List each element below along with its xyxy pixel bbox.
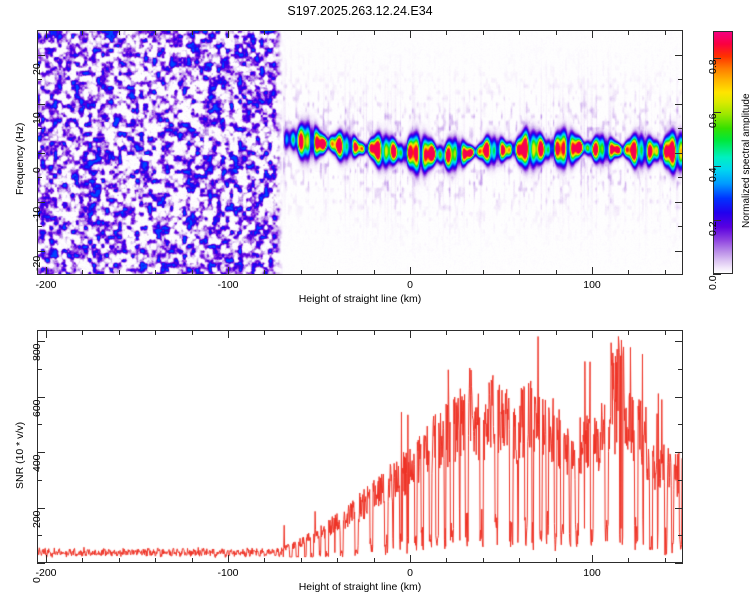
axis-tick [301, 330, 302, 335]
axis-tick [119, 330, 120, 335]
axis-tick [628, 30, 629, 35]
axis-tick [675, 153, 683, 154]
axis-tick [192, 330, 193, 335]
axis-tick-label: -100 [206, 567, 250, 579]
axis-tick [82, 330, 83, 335]
axis-tick [119, 558, 120, 563]
axis-tick [665, 330, 666, 335]
axis-tick [37, 424, 42, 425]
axis-tick [155, 30, 156, 35]
snr-yaxis-label: SNR (10 * v/v) [14, 421, 26, 488]
axis-tick [519, 270, 520, 275]
axis-tick [37, 128, 42, 129]
axis-tick [556, 30, 557, 35]
axis-tick [678, 424, 683, 425]
axis-tick [228, 330, 229, 338]
axis-tick [301, 30, 302, 35]
axis-tick [678, 226, 683, 227]
axis-tick [37, 79, 42, 80]
colorbar-tick-label: 0.4 [707, 146, 719, 182]
axis-tick [410, 330, 411, 338]
axis-tick [519, 30, 520, 35]
axis-tick [678, 128, 683, 129]
axis-tick-label: 0 [31, 543, 43, 583]
axis-tick [264, 270, 265, 275]
spectrogram-xaxis-label: Height of straight line (km) [37, 293, 683, 305]
axis-tick [119, 30, 120, 35]
axis-tick [592, 267, 593, 275]
colorbar-tick-label: 0.0 [707, 254, 719, 290]
axis-tick [301, 558, 302, 563]
axis-tick [665, 558, 666, 563]
axis-tick-label: 0 [388, 279, 432, 291]
axis-tick-label: -100 [206, 279, 250, 291]
axis-tick [337, 30, 338, 35]
axis-tick-label: 0 [31, 133, 43, 173]
spectrogram-image [38, 31, 682, 274]
axis-tick [82, 270, 83, 275]
axis-tick-label: 600 [31, 377, 43, 417]
axis-tick [374, 270, 375, 275]
axis-tick [483, 330, 484, 335]
axis-tick-label: -20 [31, 231, 43, 271]
axis-tick [192, 30, 193, 35]
axis-tick [82, 30, 83, 35]
axis-tick [82, 558, 83, 563]
axis-tick [678, 79, 683, 80]
axis-tick [192, 270, 193, 275]
axis-tick [46, 555, 47, 563]
axis-tick-label: 100 [570, 279, 614, 291]
axis-tick [483, 30, 484, 35]
axis-tick [678, 177, 683, 178]
axis-tick [155, 270, 156, 275]
axis-tick [556, 558, 557, 563]
axis-tick [37, 226, 42, 227]
axis-tick [675, 452, 683, 453]
axis-tick [446, 270, 447, 275]
snr-xaxis-label: Height of straight line (km) [37, 581, 683, 593]
axis-tick [37, 480, 42, 481]
axis-tick [155, 330, 156, 335]
axis-tick [37, 535, 42, 536]
axis-tick [483, 270, 484, 275]
page-title: S197.2025.263.12.24.E34 [37, 4, 683, 18]
axis-tick [192, 558, 193, 563]
axis-tick [264, 330, 265, 335]
axis-tick [374, 330, 375, 335]
axis-tick [678, 480, 683, 481]
axis-tick-label: 0 [388, 567, 432, 579]
axis-tick [46, 330, 47, 338]
colorbar-tick-label: 0.8 [707, 38, 719, 74]
axis-tick [675, 508, 683, 509]
axis-tick [337, 330, 338, 335]
axis-tick-label: -200 [24, 279, 68, 291]
axis-tick-label: 10 [31, 84, 43, 124]
axis-tick-label: 200 [31, 488, 43, 528]
axis-tick [675, 104, 683, 105]
axis-tick [519, 558, 520, 563]
axis-tick [337, 558, 338, 563]
axis-tick [119, 270, 120, 275]
axis-tick [337, 270, 338, 275]
axis-tick [556, 270, 557, 275]
spectrogram-yaxis-label: Frequency (Hz) [14, 122, 26, 194]
axis-tick [374, 30, 375, 35]
axis-tick [592, 30, 593, 38]
axis-tick [301, 270, 302, 275]
axis-tick [410, 30, 411, 38]
axis-tick [37, 369, 42, 370]
figure-root: S197.2025.263.12.24.E34 -200-1000100-20-… [0, 0, 750, 600]
axis-tick [155, 558, 156, 563]
axis-tick [592, 555, 593, 563]
axis-tick [665, 30, 666, 35]
axis-tick [675, 251, 683, 252]
axis-tick [678, 369, 683, 370]
axis-tick [46, 30, 47, 38]
axis-tick-label: 20 [31, 35, 43, 75]
axis-tick [264, 30, 265, 35]
axis-tick [264, 558, 265, 563]
axis-tick [628, 330, 629, 335]
axis-tick [556, 330, 557, 335]
axis-tick [46, 267, 47, 275]
axis-tick [446, 558, 447, 563]
axis-tick [410, 555, 411, 563]
colorbar-tick-label: 0.6 [707, 92, 719, 128]
axis-tick [37, 177, 42, 178]
axis-tick-label: 400 [31, 432, 43, 472]
axis-tick [410, 267, 411, 275]
axis-tick [446, 330, 447, 335]
axis-tick [675, 202, 683, 203]
axis-tick-label: -10 [31, 182, 43, 222]
axis-tick [483, 558, 484, 563]
axis-tick [228, 30, 229, 38]
axis-tick [675, 563, 683, 564]
axis-tick [374, 558, 375, 563]
axis-tick [675, 397, 683, 398]
colorbar-label: Normalized spectral amplitude [741, 93, 750, 228]
axis-tick [519, 330, 520, 335]
colorbar-tick-label: 0.2 [707, 200, 719, 236]
snr-line-series [38, 331, 682, 562]
axis-tick [675, 341, 683, 342]
axis-tick [665, 270, 666, 275]
axis-tick [628, 558, 629, 563]
axis-tick [228, 555, 229, 563]
axis-tick [675, 55, 683, 56]
axis-tick-label: 100 [570, 567, 614, 579]
axis-tick [592, 330, 593, 338]
axis-tick [446, 30, 447, 35]
axis-tick [228, 267, 229, 275]
axis-tick-label: 800 [31, 321, 43, 361]
axis-tick [678, 535, 683, 536]
axis-tick [628, 270, 629, 275]
